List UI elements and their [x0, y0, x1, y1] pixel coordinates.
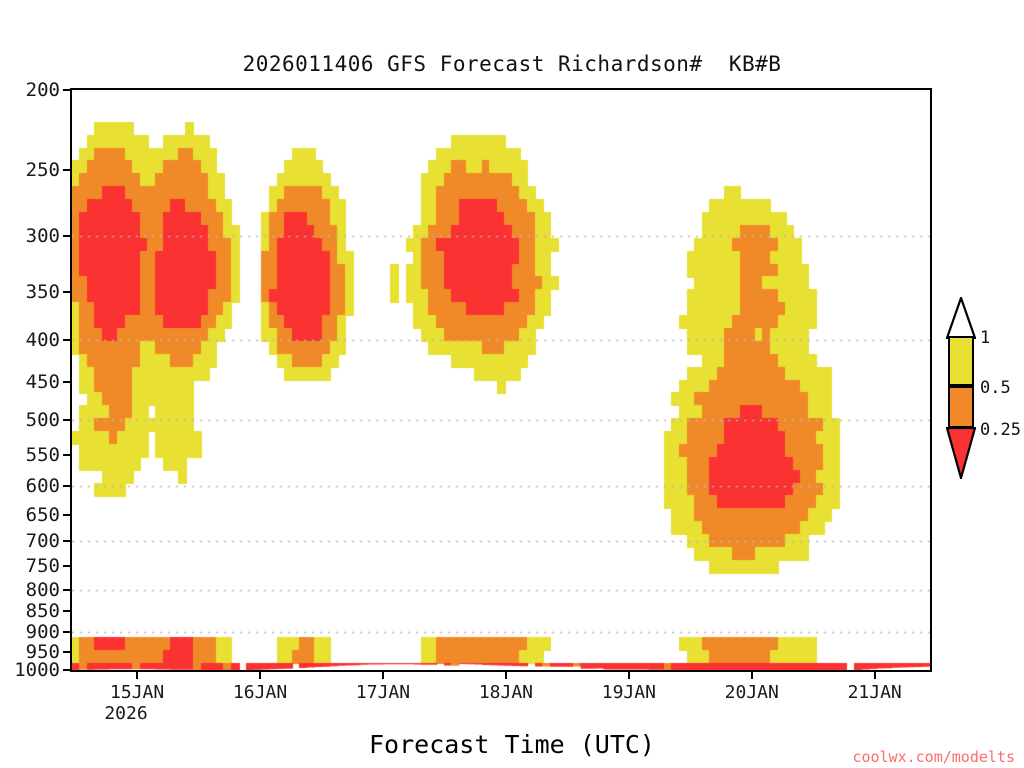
- colorbar-lower-arrow: [946, 427, 976, 479]
- y-tick-mark: [63, 631, 72, 633]
- x-tick-mark: [874, 670, 876, 679]
- y-tick-label-200: 200: [0, 81, 60, 100]
- colorbar-band-orange: [948, 386, 974, 428]
- chart-page: 2026011406 GFS Forecast Richardson# KB#B…: [0, 0, 1024, 768]
- x-tick-label-16JAN: 16JAN: [205, 683, 315, 704]
- y-tick-mark: [63, 485, 72, 487]
- gridlines-canvas: [72, 90, 930, 670]
- x-tick-mark: [505, 670, 507, 679]
- y-tick-mark: [63, 291, 72, 293]
- y-tick-mark: [63, 339, 72, 341]
- y-tick-mark: [63, 454, 72, 456]
- y-tick-mark: [63, 419, 72, 421]
- x-tick-label-17JAN: 17JAN: [328, 683, 438, 704]
- y-tick-mark: [63, 610, 72, 612]
- chart-title: 2026011406 GFS Forecast Richardson# KB#B: [0, 52, 1024, 76]
- y-tick-label-450: 450: [0, 373, 60, 392]
- y-tick-label-1000: 1000: [0, 661, 60, 680]
- x-tick-label-21JAN: 21JAN: [820, 683, 930, 704]
- y-tick-mark: [63, 589, 72, 591]
- x-tick-label-15JAN: 15JAN: [82, 683, 192, 704]
- y-tick-mark: [63, 89, 72, 91]
- colorbar: 1 0.5 0.25: [936, 294, 1024, 484]
- y-tick-mark: [63, 235, 72, 237]
- y-tick-label-350: 350: [0, 283, 60, 302]
- credit-watermark: coolwx.com/modelts: [0, 748, 1015, 766]
- colorbar-band-yellow: [948, 336, 974, 386]
- y-tick-label-300: 300: [0, 227, 60, 246]
- colorbar-label-1: 1: [980, 330, 990, 347]
- y-tick-label-400: 400: [0, 331, 60, 350]
- x-tick-mark: [382, 670, 384, 679]
- y-tick-mark: [63, 669, 72, 671]
- y-tick-label-700: 700: [0, 532, 60, 551]
- x-axis-year-label: 2026: [78, 703, 174, 724]
- y-tick-mark: [63, 381, 72, 383]
- y-tick-label-900: 900: [0, 623, 60, 642]
- y-tick-mark: [63, 565, 72, 567]
- y-tick-mark: [63, 514, 72, 516]
- y-tick-label-800: 800: [0, 581, 60, 600]
- y-tick-label-600: 600: [0, 477, 60, 496]
- x-tick-mark: [136, 670, 138, 679]
- colorbar-label-0p5: 0.5: [980, 380, 1011, 397]
- x-tick-label-20JAN: 20JAN: [697, 683, 807, 704]
- y-tick-mark: [63, 540, 72, 542]
- x-tick-label-18JAN: 18JAN: [451, 683, 561, 704]
- y-tick-mark: [63, 169, 72, 171]
- x-tick-mark: [259, 670, 261, 679]
- y-tick-mark: [63, 651, 72, 653]
- colorbar-label-0p25: 0.25: [980, 422, 1021, 439]
- x-tick-mark: [751, 670, 753, 679]
- y-tick-label-250: 250: [0, 161, 60, 180]
- x-tick-label-19JAN: 19JAN: [574, 683, 684, 704]
- x-tick-mark: [628, 670, 630, 679]
- y-tick-label-550: 550: [0, 446, 60, 465]
- plot-area: [70, 88, 932, 672]
- y-tick-label-650: 650: [0, 506, 60, 525]
- y-tick-label-500: 500: [0, 411, 60, 430]
- colorbar-upper-arrow: [946, 297, 976, 339]
- y-tick-label-850: 850: [0, 602, 60, 621]
- y-tick-label-750: 750: [0, 557, 60, 576]
